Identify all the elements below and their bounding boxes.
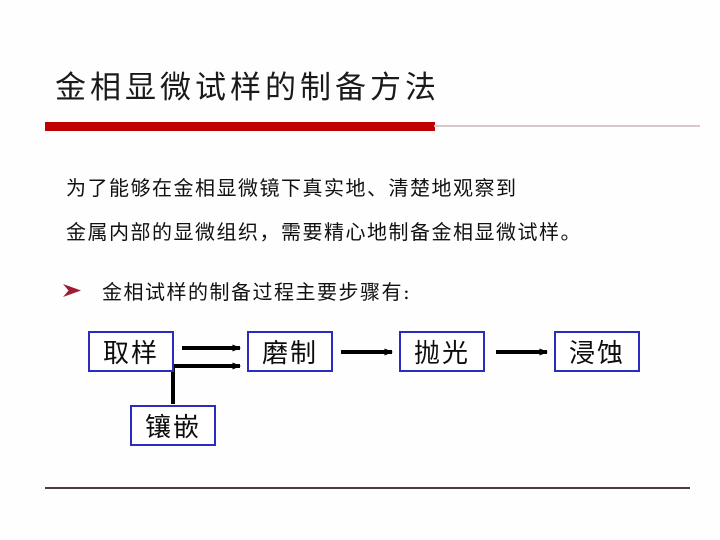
flow-node-quyang[interactable]: 取样 <box>88 331 174 372</box>
flow-node-mozhi[interactable]: 磨制 <box>247 331 333 372</box>
bullet-item-label: 金相试样的制备过程主要步骤有: <box>102 276 411 305</box>
arrow-xiangqian-to-mozhi-elbow <box>173 366 240 404</box>
bottom-divider <box>45 487 690 489</box>
flow-node-paoguang[interactable]: 抛光 <box>399 331 485 372</box>
title-divider-thick <box>45 122 435 131</box>
title-divider-thin <box>434 125 700 127</box>
bullet-list-item: 金相试样的制备过程主要步骤有: <box>62 276 411 305</box>
body-text-line-2: 金属内部的显微组织，需要精心地制备金相显微试样。 <box>66 216 582 245</box>
body-text-line-1: 为了能够在金相显微镜下真实地、清楚地观察到 <box>66 172 518 201</box>
page-title: 金相显微试样的制备方法 <box>55 62 440 107</box>
flow-node-jinshi[interactable]: 浸蚀 <box>554 331 640 372</box>
flow-node-xiangqian[interactable]: 镶嵌 <box>130 405 216 446</box>
slide-canvas: 金相显微试样的制备方法 为了能够在金相显微镜下真实地、清楚地观察到 金属内部的显… <box>0 0 720 540</box>
arrow-bullet-icon <box>62 281 84 301</box>
